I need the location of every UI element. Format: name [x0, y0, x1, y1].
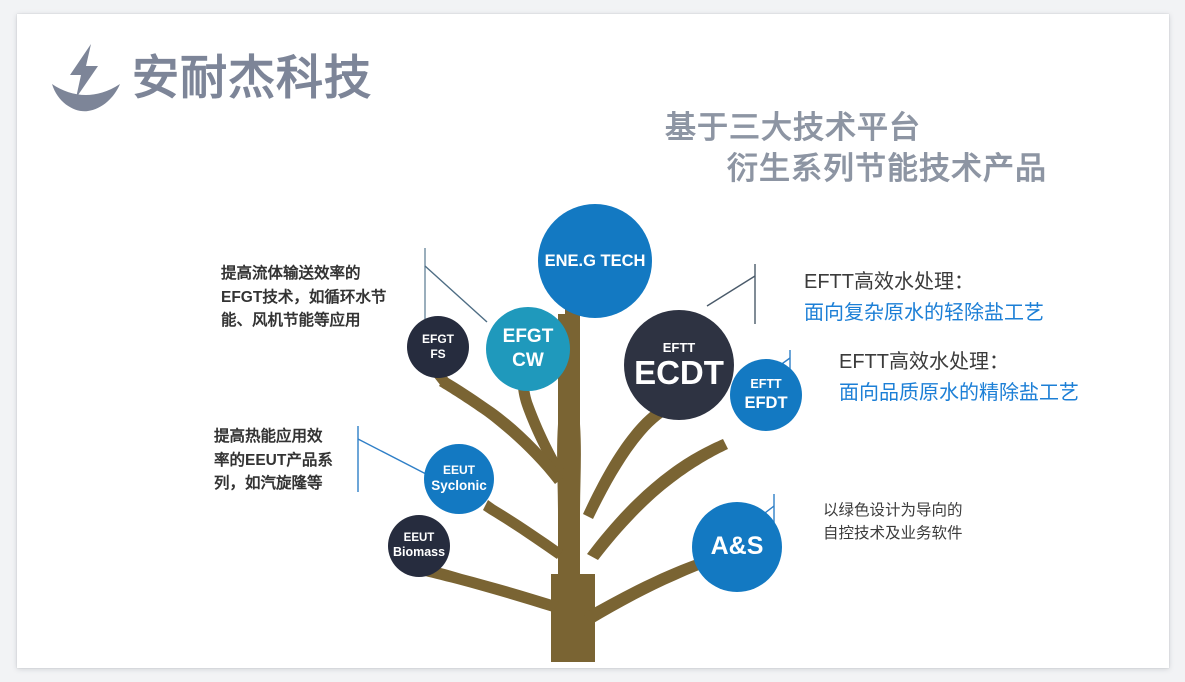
node-eneg-tech[interactable]: ENE.G TECH	[538, 204, 652, 318]
node-efgt-cw-sublabel: EFGT	[503, 327, 554, 348]
node-as-label: A&S	[711, 533, 764, 561]
node-eftt-efdt-label: EFDT	[744, 394, 787, 412]
slide-stage: 安耐杰科技 基于三大技术平台 衍生系列节能技术产品	[0, 0, 1185, 682]
callout-eftt-complex-desc: 面向复杂原水的轻除盐工艺	[804, 298, 1134, 329]
node-efgt-cw[interactable]: EFGT CW	[486, 307, 570, 391]
page-title-line-1: 基于三大技术平台	[632, 107, 1102, 148]
callout-eftt-quality-desc: 面向品质原水的精除盐工艺	[839, 378, 1169, 409]
node-eftt-efdt[interactable]: EFTT EFDT	[730, 359, 802, 431]
node-eeut-biomass[interactable]: EEUT Biomass	[388, 515, 450, 577]
callout-as-line-2: 自控技术及业务软件	[823, 522, 1043, 545]
node-eeut-syclonic-label: Syclonic	[431, 479, 487, 494]
leader-line-efgt-diagonal	[425, 266, 487, 322]
callout-as-line-1: 以绿色设计为导向的	[823, 499, 1043, 522]
node-eftt-ecdt[interactable]: EFTT ECDT	[624, 310, 734, 420]
node-efgt-fs-label: FS	[430, 348, 445, 361]
company-logo: 安耐杰科技	[50, 42, 372, 112]
page-title: 基于三大技术平台 衍生系列节能技术产品	[632, 107, 1102, 189]
callout-efgt: 提高流体输送效率的 EFGT技术，如循环水节 能、风机节能等应用	[221, 262, 426, 333]
node-eeut-syclonic-sublabel: EEUT	[443, 464, 475, 477]
leader-line-eeut-diagonal	[358, 439, 426, 474]
callout-efgt-line-2: EFGT技术，如循环水节	[221, 286, 426, 310]
callout-eftt-quality-title: EFTT高效水处理：	[839, 347, 1169, 378]
node-eftt-ecdt-label: ECDT	[634, 356, 724, 389]
node-eeut-syclonic[interactable]: EEUT Syclonic	[424, 444, 494, 514]
page-title-line-2: 衍生系列节能技术产品	[632, 148, 1102, 189]
callout-efgt-line-3: 能、风机节能等应用	[221, 309, 426, 333]
callout-eeut-line-1: 提高热能应用效	[214, 425, 364, 449]
lightning-bolt-swoosh-logo-icon	[50, 42, 124, 112]
slide-canvas: 安耐杰科技 基于三大技术平台 衍生系列节能技术产品	[17, 14, 1169, 668]
logo-text: 安耐杰科技	[132, 54, 372, 101]
callout-eeut: 提高热能应用效 率的EEUT产品系 列，如汽旋隆等	[214, 425, 364, 496]
node-eneg-tech-label: ENE.G TECH	[545, 252, 646, 270]
callout-eeut-line-3: 列，如汽旋隆等	[214, 472, 364, 496]
node-eeut-biomass-label: Biomass	[393, 546, 445, 560]
node-efgt-cw-label: CW	[512, 351, 544, 372]
node-eftt-ecdt-sublabel: EFTT	[663, 341, 696, 355]
callout-eftt-complex: EFTT高效水处理： 面向复杂原水的轻除盐工艺	[804, 267, 1134, 329]
callout-eeut-line-2: 率的EEUT产品系	[214, 449, 364, 473]
node-eeut-biomass-sublabel: EEUT	[404, 532, 435, 545]
node-efgt-fs-sublabel: EFGT	[422, 333, 454, 346]
callout-efgt-line-1: 提高流体输送效率的	[221, 262, 426, 286]
node-as[interactable]: A&S	[692, 502, 782, 592]
leader-line-eftt1-diagonal	[707, 276, 755, 306]
node-eftt-efdt-sublabel: EFTT	[750, 378, 781, 392]
callout-eftt-complex-title: EFTT高效水处理：	[804, 267, 1134, 298]
callout-as: 以绿色设计为导向的 自控技术及业务软件	[823, 499, 1043, 546]
callout-eftt-quality: EFTT高效水处理： 面向品质原水的精除盐工艺	[839, 347, 1169, 409]
